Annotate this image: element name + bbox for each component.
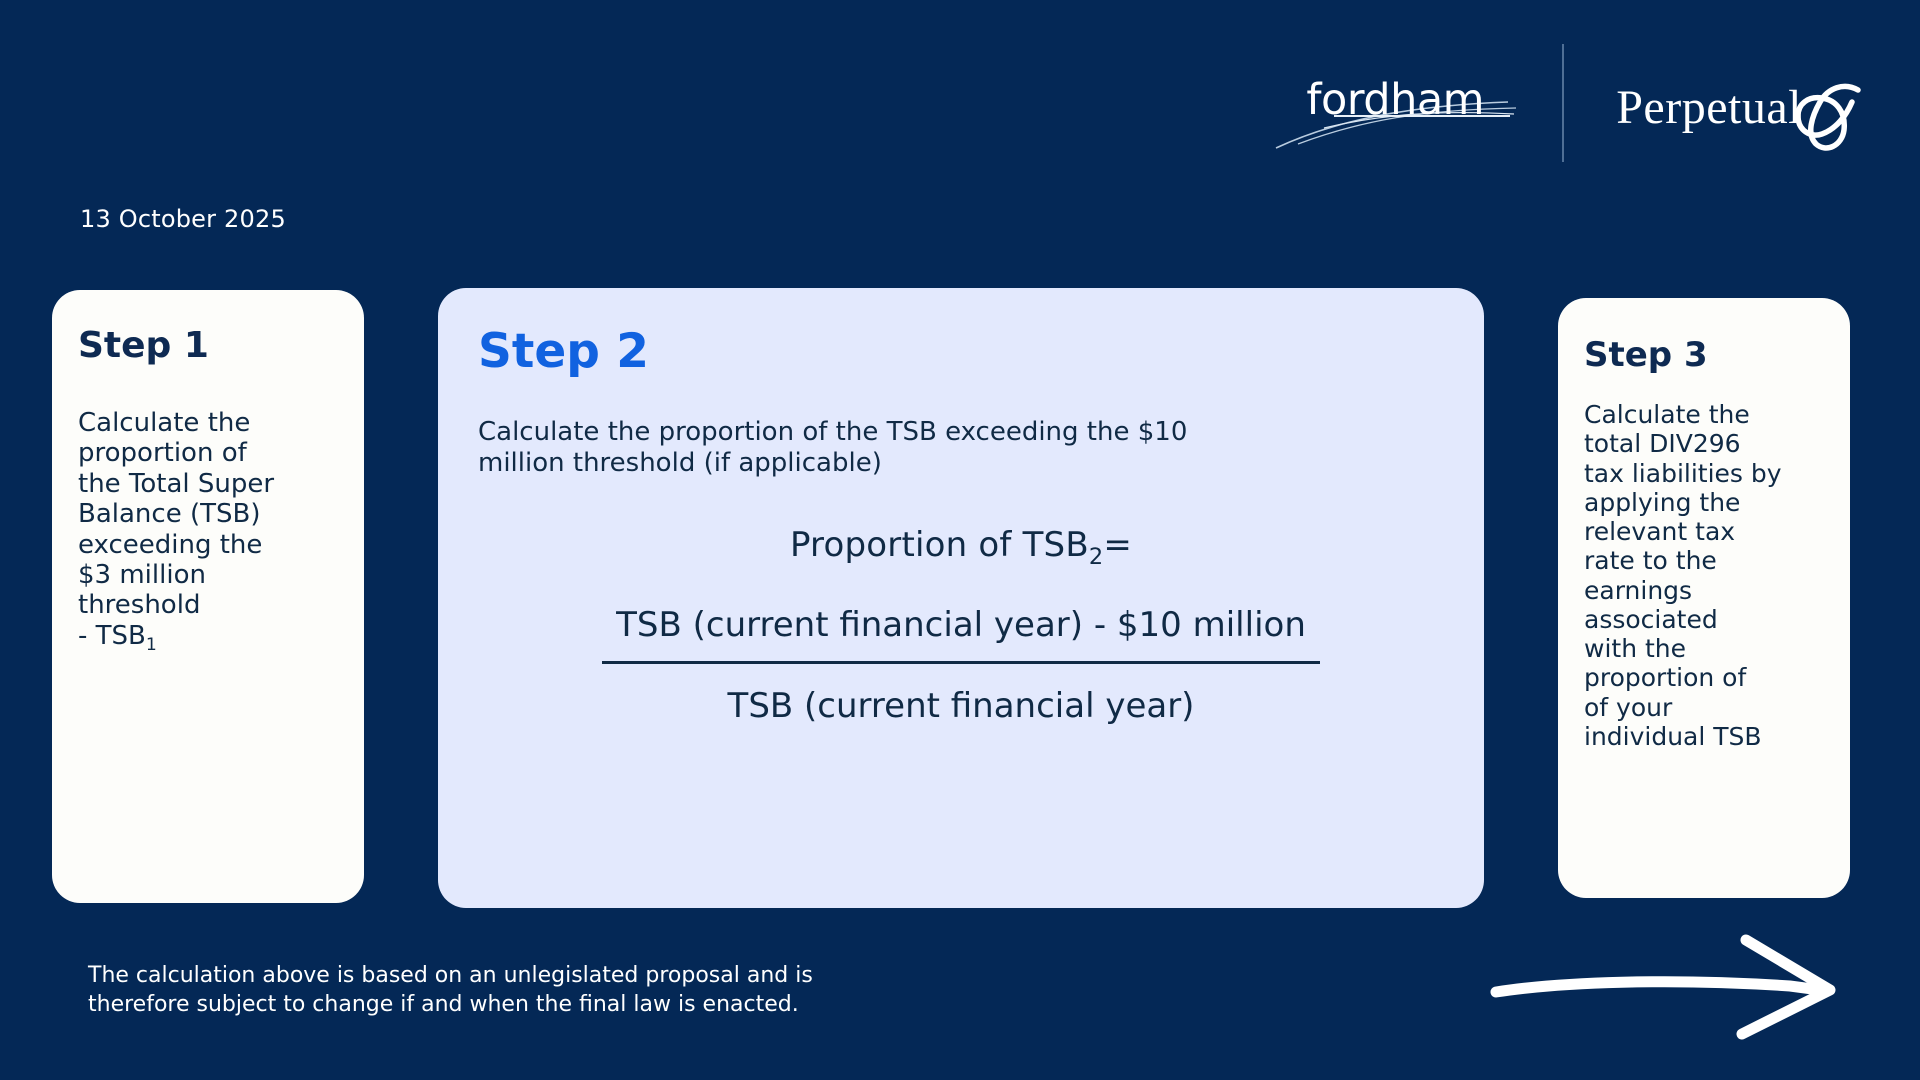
step-3-card: Step 3 Calculate the total DIV296 tax li… bbox=[1558, 298, 1850, 898]
fraction-denominator: TSB (current financial year) bbox=[602, 664, 1320, 726]
date-label: 13 October 2025 bbox=[80, 205, 286, 233]
disclaimer-note: The calculation above is based on an unl… bbox=[88, 962, 813, 1019]
step-3-body-line: applying the bbox=[1584, 488, 1824, 517]
step-3-body-line: Calculate the bbox=[1584, 400, 1824, 429]
step-2-card: Step 2 Calculate the proportion of the T… bbox=[438, 288, 1484, 908]
step-1-body-line: Balance (TSB) bbox=[78, 499, 338, 529]
formula-lead-subscript: 2 bbox=[1089, 544, 1103, 570]
fraction-numerator: TSB (current financial year) - $10 milli… bbox=[602, 605, 1320, 661]
perpetual-logo: Perpetual bbox=[1616, 58, 1872, 148]
step-3-body-line: rate to the bbox=[1584, 546, 1824, 575]
formula-fraction: TSB (current financial year) - $10 milli… bbox=[602, 605, 1320, 726]
step-3-body-line: earnings bbox=[1584, 576, 1824, 605]
fordham-logo: fordham bbox=[1280, 58, 1510, 148]
fordham-wordmark: fordham bbox=[1306, 79, 1484, 122]
step-3-body-line: with the bbox=[1584, 634, 1824, 663]
step-1-body-line: exceeding the bbox=[78, 530, 338, 560]
step-2-formula: Proportion of TSB2= TSB (current financi… bbox=[478, 525, 1444, 726]
formula-lead-text: Proportion of TSB bbox=[790, 525, 1089, 565]
logo-divider bbox=[1562, 44, 1564, 162]
step-1-body-line: Calculate the bbox=[78, 408, 338, 438]
step-2-body: Calculate the proportion of the TSB exce… bbox=[478, 417, 1444, 479]
step-1-body-line-tsb: - TSB1 bbox=[78, 621, 338, 651]
step-2-body-line: Calculate the proportion of the TSB exce… bbox=[478, 417, 1444, 448]
step-3-title: Step 3 bbox=[1584, 338, 1824, 372]
step-3-body-line: individual TSB bbox=[1584, 722, 1824, 751]
perpetual-wordmark: Perpetual bbox=[1616, 84, 1802, 132]
step-1-body: Calculate the proportion of the Total Su… bbox=[78, 408, 338, 651]
disclaimer-line-2: therefore subject to change if and when … bbox=[88, 991, 813, 1020]
logo-bar: fordham Perpetual bbox=[1280, 40, 1872, 165]
step-3-body-line: tax liabilities by bbox=[1584, 459, 1824, 488]
step-1-title: Step 1 bbox=[78, 328, 338, 364]
step-3-body-line: proportion of bbox=[1584, 663, 1824, 692]
step-3-body-line: total DIV296 bbox=[1584, 429, 1824, 458]
step-1-body-line: the Total Super bbox=[78, 469, 338, 499]
formula-lead: Proportion of TSB2= bbox=[478, 525, 1444, 565]
step-3-body-line: associated bbox=[1584, 605, 1824, 634]
step-1-body-line: proportion of bbox=[78, 438, 338, 468]
step-1-card: Step 1 Calculate the proportion of the T… bbox=[52, 290, 364, 903]
step-3-body: Calculate the total DIV296 tax liabiliti… bbox=[1584, 400, 1824, 751]
step-3-body-line: of your bbox=[1584, 693, 1824, 722]
formula-lead-operator: = bbox=[1103, 525, 1132, 565]
step-2-title: Step 2 bbox=[478, 328, 1444, 375]
disclaimer-line-1: The calculation above is based on an unl… bbox=[88, 962, 813, 991]
perpetual-infinity-icon bbox=[1786, 76, 1872, 154]
step-1-body-line: $3 million bbox=[78, 560, 338, 590]
step-1-tsb-subscript: 1 bbox=[146, 635, 157, 655]
step-3-body-line: relevant tax bbox=[1584, 517, 1824, 546]
step-1-tsb-text: - TSB bbox=[78, 621, 146, 651]
step-2-body-line: million threshold (if applicable) bbox=[478, 448, 1444, 479]
step-1-body-line: threshold bbox=[78, 590, 338, 620]
right-arrow-icon bbox=[1490, 930, 1870, 1040]
